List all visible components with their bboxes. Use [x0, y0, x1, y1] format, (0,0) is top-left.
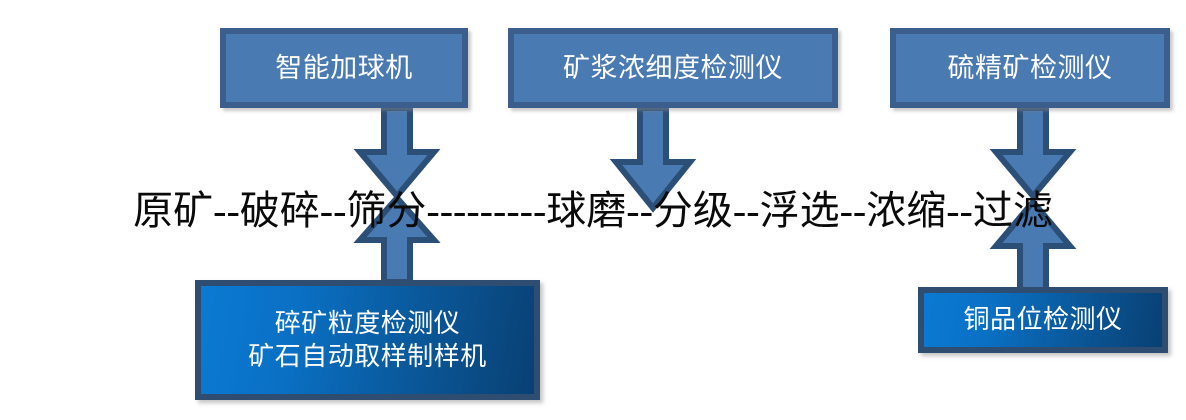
box-copper-grade-meter-label: 铜品位检测仪 [963, 303, 1122, 336]
box-ball-mill-feeder-label: 智能加球机 [275, 51, 413, 86]
box-sulfur-concentrate-meter-label: 硫精矿检测仪 [948, 51, 1113, 86]
box-sulfur-concentrate-meter[interactable]: 硫精矿检测仪 [890, 28, 1170, 108]
process-flow-line: 原矿--破碎--筛分---------球磨--分级--浮选--浓缩--过滤 [0, 178, 1186, 236]
box-slurry-density-meter[interactable]: 矿浆浓细度检测仪 [508, 28, 838, 108]
box-ball-mill-feeder[interactable]: 智能加球机 [220, 28, 468, 108]
box-crushed-ore-meter-label: 碎矿粒度检测仪 矿石自动取样制样机 [248, 307, 487, 374]
box-crushed-ore-meter[interactable]: 碎矿粒度检测仪 矿石自动取样制样机 [195, 280, 540, 400]
box-slurry-density-meter-label: 矿浆浓细度检测仪 [563, 51, 783, 86]
box-copper-grade-meter[interactable]: 铜品位检测仪 [918, 287, 1168, 353]
diagram-canvas: 智能加球机 矿浆浓细度检测仪 硫精矿检测仪 碎矿粒度检测仪 矿石自动取样制样机 … [0, 0, 1186, 420]
process-flow-text: 原矿--破碎--筛分---------球磨--分级--浮选--浓缩--过滤 [133, 178, 1053, 236]
